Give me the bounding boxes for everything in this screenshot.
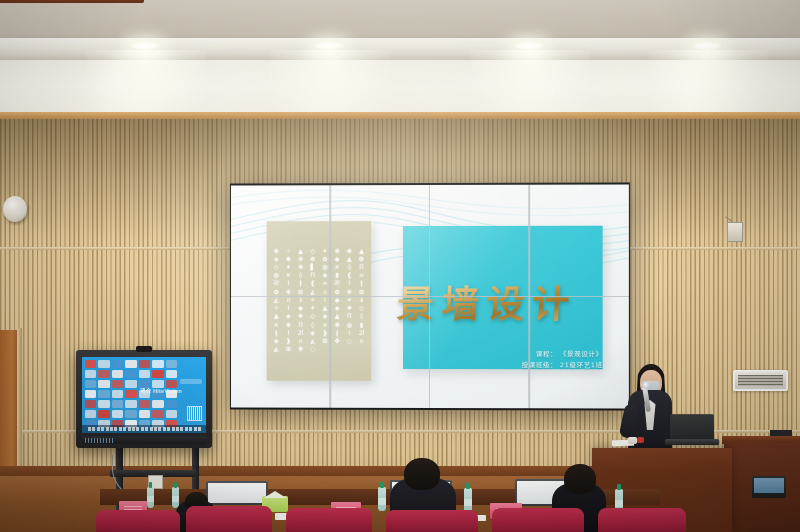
pattern-symbol: ❱: [322, 331, 327, 337]
pattern-symbol: ◭: [274, 298, 279, 304]
taskbar-item[interactable]: [114, 427, 117, 431]
pattern-symbol: ▲: [274, 314, 279, 320]
pattern-symbol: ◭: [310, 290, 315, 296]
taskbar-item[interactable]: [176, 427, 179, 431]
audience-seat: [186, 506, 272, 532]
pattern-symbol: ∩: [323, 290, 327, 296]
round-wall-speaker-icon: [3, 196, 27, 222]
pattern-symbol: ❉: [286, 290, 291, 296]
taskbar-item[interactable]: [154, 427, 157, 431]
desktop-icon[interactable]: [139, 400, 150, 408]
pattern-symbol: ◍: [347, 323, 352, 329]
pattern-symbol: ❋: [286, 323, 291, 329]
desktop-icon[interactable]: [166, 400, 177, 408]
pattern-symbol: ⌇: [348, 331, 351, 337]
audience-seat: [492, 508, 584, 532]
pattern-symbol: ⊞: [322, 339, 327, 345]
pattern-symbol: ✤: [298, 347, 303, 353]
taskbar-item[interactable]: [106, 427, 109, 431]
desktop-icon[interactable]: [98, 360, 109, 368]
podium-top: [0, 0, 144, 3]
pattern-symbol: ✕: [274, 322, 279, 328]
ceiling-spotlight-icon: [690, 42, 724, 51]
desktop-icon[interactable]: [112, 390, 123, 398]
pattern-symbol: ❉: [347, 290, 352, 296]
water-bottle: [464, 488, 472, 512]
ceiling-spotlight-icon: [128, 42, 162, 51]
desktop-icon[interactable]: [85, 400, 96, 408]
pattern-symbol: ▲: [359, 249, 364, 255]
desktop-icon[interactable]: [98, 370, 109, 378]
podium-cup: [628, 437, 637, 444]
pattern-symbol: Π: [347, 314, 351, 320]
taskbar-item[interactable]: [141, 427, 144, 431]
pattern-symbol: ⇓: [298, 298, 303, 304]
pattern-symbol: ✦: [347, 298, 352, 304]
taskbar-item[interactable]: [194, 427, 197, 431]
taskbar-item[interactable]: [101, 427, 104, 431]
pattern-symbol: ▮: [335, 273, 338, 279]
pattern-symbol: ▲: [347, 257, 352, 263]
pattern-symbol: ◈: [274, 257, 279, 263]
slide-title: 景墙设计: [396, 274, 622, 328]
pattern-symbol: ❙: [298, 282, 303, 288]
desktop-icon[interactable]: [125, 360, 136, 368]
pattern-symbol: ✧: [274, 306, 279, 312]
pattern-symbol: Π: [359, 265, 364, 271]
pattern-symbol: ⌇: [348, 281, 351, 287]
pattern-symbol: ◈: [335, 306, 340, 312]
pattern-symbol: ❙: [359, 281, 364, 287]
taskbar-item[interactable]: [119, 427, 122, 431]
water-bottle: [147, 487, 154, 508]
front-video-wall[interactable]: ✤⁘▲◇✦❋✤▲◈✱✜❁✿◆▲❂◇✦❁▌◍✕◊Π◍✕◊Π◈▮❰∞卍⌇❙❰∞卍⌇❙…: [230, 182, 630, 410]
taskbar-item[interactable]: [92, 427, 95, 431]
pattern-symbol: ∩: [298, 339, 302, 345]
pattern-symbol: ✧: [310, 298, 315, 304]
desktop-icon[interactable]: [85, 380, 96, 388]
desktop-icon[interactable]: [152, 370, 163, 378]
pattern-symbol: ▮: [360, 323, 363, 329]
pattern-symbol: ❋: [335, 249, 340, 255]
pattern-symbol: ❂: [359, 257, 364, 263]
desktop-icon[interactable]: [112, 370, 123, 378]
desktop-icon[interactable]: [125, 400, 136, 408]
panel-camera-icon: [136, 346, 152, 352]
pattern-symbol: ✱: [286, 257, 291, 263]
desktop-icon[interactable]: [112, 410, 123, 418]
pattern-symbol: ⊞: [298, 290, 303, 296]
pattern-symbol: ✤: [347, 249, 352, 255]
pattern-symbol: ❰: [310, 282, 315, 288]
pattern-symbol: ❁: [310, 257, 315, 263]
desktop-icon[interactable]: [98, 390, 109, 398]
pattern-symbol: ∞: [359, 273, 364, 279]
slide-subtitle-class: 授课班级： 21级环艺1班: [522, 360, 603, 372]
podium-red-item: [637, 437, 644, 443]
pattern-symbol: ❰: [347, 273, 352, 279]
slide-pattern-panel: ✤⁘▲◇✦❋✤▲◈✱✜❁✿◆▲❂◇✦❁▌◍✕◊Π◍✕◊Π◈▮❰∞卍⌇❙❰∞卍⌇❙…: [266, 221, 371, 381]
pattern-symbol: ◆: [335, 257, 340, 263]
pattern-symbol: ◇: [310, 249, 315, 255]
audience-seat: [286, 508, 372, 532]
audience-seat: [386, 510, 478, 532]
pattern-symbol: 卍: [334, 281, 340, 287]
panel-logo: [85, 438, 115, 443]
desktop-icon[interactable]: [98, 380, 109, 388]
pattern-symbol: ✿: [335, 290, 340, 296]
pattern-symbol: ✕: [286, 273, 291, 279]
desktop-icon[interactable]: [125, 380, 136, 388]
pattern-symbol: ✜: [298, 257, 303, 263]
pattern-symbol: ✦: [322, 249, 327, 255]
pattern-symbol: ◈: [274, 339, 279, 345]
side-monitor[interactable]: [752, 476, 786, 498]
attendee-head: [564, 464, 596, 494]
desktop-icon[interactable]: [85, 410, 96, 418]
desktop-icon[interactable]: [112, 380, 123, 388]
audience-seat: [598, 508, 686, 532]
panel-screen[interactable]: 鸿合 HiteVision: [82, 357, 206, 433]
pattern-symbol: ▲: [335, 314, 340, 320]
pattern-symbol: ◊: [360, 314, 363, 320]
desktop-widget: [180, 379, 202, 384]
pattern-symbol: ✤: [274, 249, 279, 255]
desktop-icon[interactable]: [98, 400, 109, 408]
ceiling-wood-trim: [0, 112, 800, 119]
pattern-symbol: ⇓: [359, 298, 364, 304]
desktop-icon[interactable]: [125, 410, 136, 418]
taskbar-item[interactable]: [110, 427, 113, 431]
taskbar-item[interactable]: [97, 427, 100, 431]
slide-subtitle: 课程： 《景观设计》 授课班级： 21级环艺1班: [522, 349, 603, 372]
pattern-symbol: ∩: [286, 298, 290, 304]
desktop-icon[interactable]: [112, 360, 123, 368]
pattern-symbol: ◊: [348, 265, 351, 271]
lecture-hall-scene: ✤⁘▲◇✦❋✤▲◈✱✜❁✿◆▲❂◇✦❁▌◍✕◊Π◍✕◊Π◈▮❰∞卍⌇❙❰∞卍⌇❙…: [0, 0, 800, 532]
taskbar-item[interactable]: [172, 427, 175, 431]
qr-code-icon: [187, 406, 202, 421]
pattern-symbol: ◍: [274, 273, 279, 279]
pattern-symbol: 2l: [298, 331, 303, 337]
pattern-symbol: ❙: [335, 331, 340, 337]
wall-junction-box-icon: [727, 222, 743, 242]
taskbar-item[interactable]: [132, 427, 135, 431]
pattern-symbol: ⌇: [287, 306, 290, 312]
pattern-symbol: ◈: [286, 314, 291, 320]
podium-laptop[interactable]: [670, 414, 714, 440]
pattern-symbol: ✦: [286, 265, 291, 271]
pattern-symbol: ✕: [335, 265, 340, 271]
pattern-symbol: ◇: [359, 306, 364, 312]
pattern-symbol: ❙: [274, 331, 279, 337]
desktop-icon[interactable]: [139, 360, 150, 368]
pattern-symbol: ❖: [347, 306, 352, 312]
desktop-icon[interactable]: [139, 410, 150, 418]
ceiling-spotlight-icon: [512, 42, 546, 51]
pattern-symbol: ◈: [323, 314, 328, 320]
pattern-symbol: ✿: [322, 257, 327, 263]
desktop-icon[interactable]: [166, 410, 177, 418]
pattern-symbol: ✤: [335, 339, 340, 345]
taskbar-item[interactable]: [189, 427, 192, 431]
desktop-icon[interactable]: [85, 360, 96, 368]
desktop-icon[interactable]: [98, 410, 109, 418]
taskbar-item[interactable]: [163, 427, 166, 431]
pattern-symbol: ⊞: [286, 347, 291, 353]
desktop-icon[interactable]: [139, 370, 150, 378]
taskbar-item[interactable]: [123, 427, 126, 431]
pattern-symbol: ✦: [310, 306, 315, 312]
pattern-symbol: ◌: [310, 347, 315, 353]
pattern-symbol: ❋: [335, 323, 340, 329]
pattern-symbol: ❁: [298, 265, 303, 271]
pattern-symbol: ✿: [274, 290, 279, 296]
attendee-laptop[interactable]: [206, 481, 268, 505]
pattern-symbol: ◭: [310, 339, 315, 345]
pattern-symbol: ⌇: [287, 331, 290, 337]
interactive-flat-panel[interactable]: 鸿合 HiteVision: [76, 350, 212, 448]
air-return-vent-icon: [733, 370, 788, 391]
slide-subtitle-course: 课程： 《景观设计》: [522, 349, 603, 361]
desktop-icon[interactable]: [85, 370, 96, 378]
taskbar-item[interactable]: [136, 427, 139, 431]
laptop-screen: [208, 483, 266, 503]
pattern-symbol: 2l: [359, 331, 364, 337]
microphone-head-icon: [643, 382, 650, 389]
taskbar-item[interactable]: [158, 427, 161, 431]
pattern-symbol: ◭: [274, 347, 279, 353]
pattern-symbol: ∩: [359, 339, 363, 345]
desktop-icon[interactable]: [166, 370, 177, 378]
taskbar-item[interactable]: [185, 427, 188, 431]
pattern-symbol: Π: [311, 273, 315, 279]
desktop-icon[interactable]: [125, 390, 136, 398]
slide-pattern-symbols: ✤⁘▲◇✦❋✤▲◈✱✜❁✿◆▲❂◇✦❁▌◍✕◊Π◍✕◊Π◈▮❰∞卍⌇❙❰∞卍⌇❙…: [271, 248, 368, 354]
pattern-symbol: ❖: [298, 314, 303, 320]
taskbar-item[interactable]: [145, 427, 148, 431]
pattern-symbol: ❱: [286, 339, 291, 345]
panel-chin: [82, 436, 206, 444]
pattern-symbol: ⁘: [286, 249, 291, 255]
taskbar-item[interactable]: [128, 427, 131, 431]
pattern-symbol: ◈: [323, 273, 328, 279]
pattern-symbol: ◇: [310, 314, 315, 320]
pattern-symbol: ⌇: [287, 282, 290, 288]
taskbar-item[interactable]: [198, 427, 201, 431]
taskbar-item[interactable]: [150, 427, 153, 431]
pattern-symbol: ⊞: [359, 290, 364, 296]
desktop-icon[interactable]: [166, 360, 177, 368]
desktop-icon[interactable]: [152, 360, 163, 368]
pattern-symbol: ◌: [347, 339, 352, 345]
pattern-symbol: ◊: [299, 273, 302, 279]
taskbar-item[interactable]: [88, 427, 91, 431]
water-bottle: [378, 487, 386, 511]
taskbar-item[interactable]: [167, 427, 170, 431]
pattern-symbol: ▲: [323, 306, 328, 312]
ceiling-spotlight-icon: [312, 42, 346, 51]
pattern-symbol: ◈: [310, 331, 315, 337]
desktop-icon[interactable]: [85, 390, 96, 398]
pattern-symbol: ⌇: [323, 298, 326, 304]
taskbar[interactable]: [82, 425, 206, 433]
pattern-symbol: ∞: [322, 282, 327, 288]
pattern-symbol: ▲: [298, 249, 303, 255]
pattern-symbol: ◇: [274, 265, 279, 271]
taskbar-item[interactable]: [180, 427, 183, 431]
audience-seat: [96, 510, 180, 532]
desktop-icon[interactable]: [152, 400, 163, 408]
pattern-symbol: Π: [298, 323, 302, 329]
attendee-head: [404, 458, 440, 490]
pattern-symbol: ✕: [322, 323, 327, 329]
pattern-symbol: ▌: [310, 265, 315, 271]
desktop-icon[interactable]: [125, 370, 136, 378]
pattern-symbol: ◆: [335, 298, 340, 304]
pattern-symbol: 卍: [273, 282, 279, 288]
desktop-icon[interactable]: [112, 400, 123, 408]
pattern-symbol: ◆: [298, 306, 303, 312]
pattern-symbol: ◊: [311, 323, 314, 329]
pattern-symbol: ◍: [322, 265, 327, 271]
panel-brand-watermark: 鸿合 HiteVision: [140, 387, 182, 395]
desktop-icon[interactable]: [152, 410, 163, 418]
video-wall-screen: ✤⁘▲◇✦❋✤▲◈✱✜❁✿◆▲❂◇✦❁▌◍✕◊Π◍✕◊Π◈▮❰∞卍⌇❙❰∞卍⌇❙…: [231, 184, 629, 408]
